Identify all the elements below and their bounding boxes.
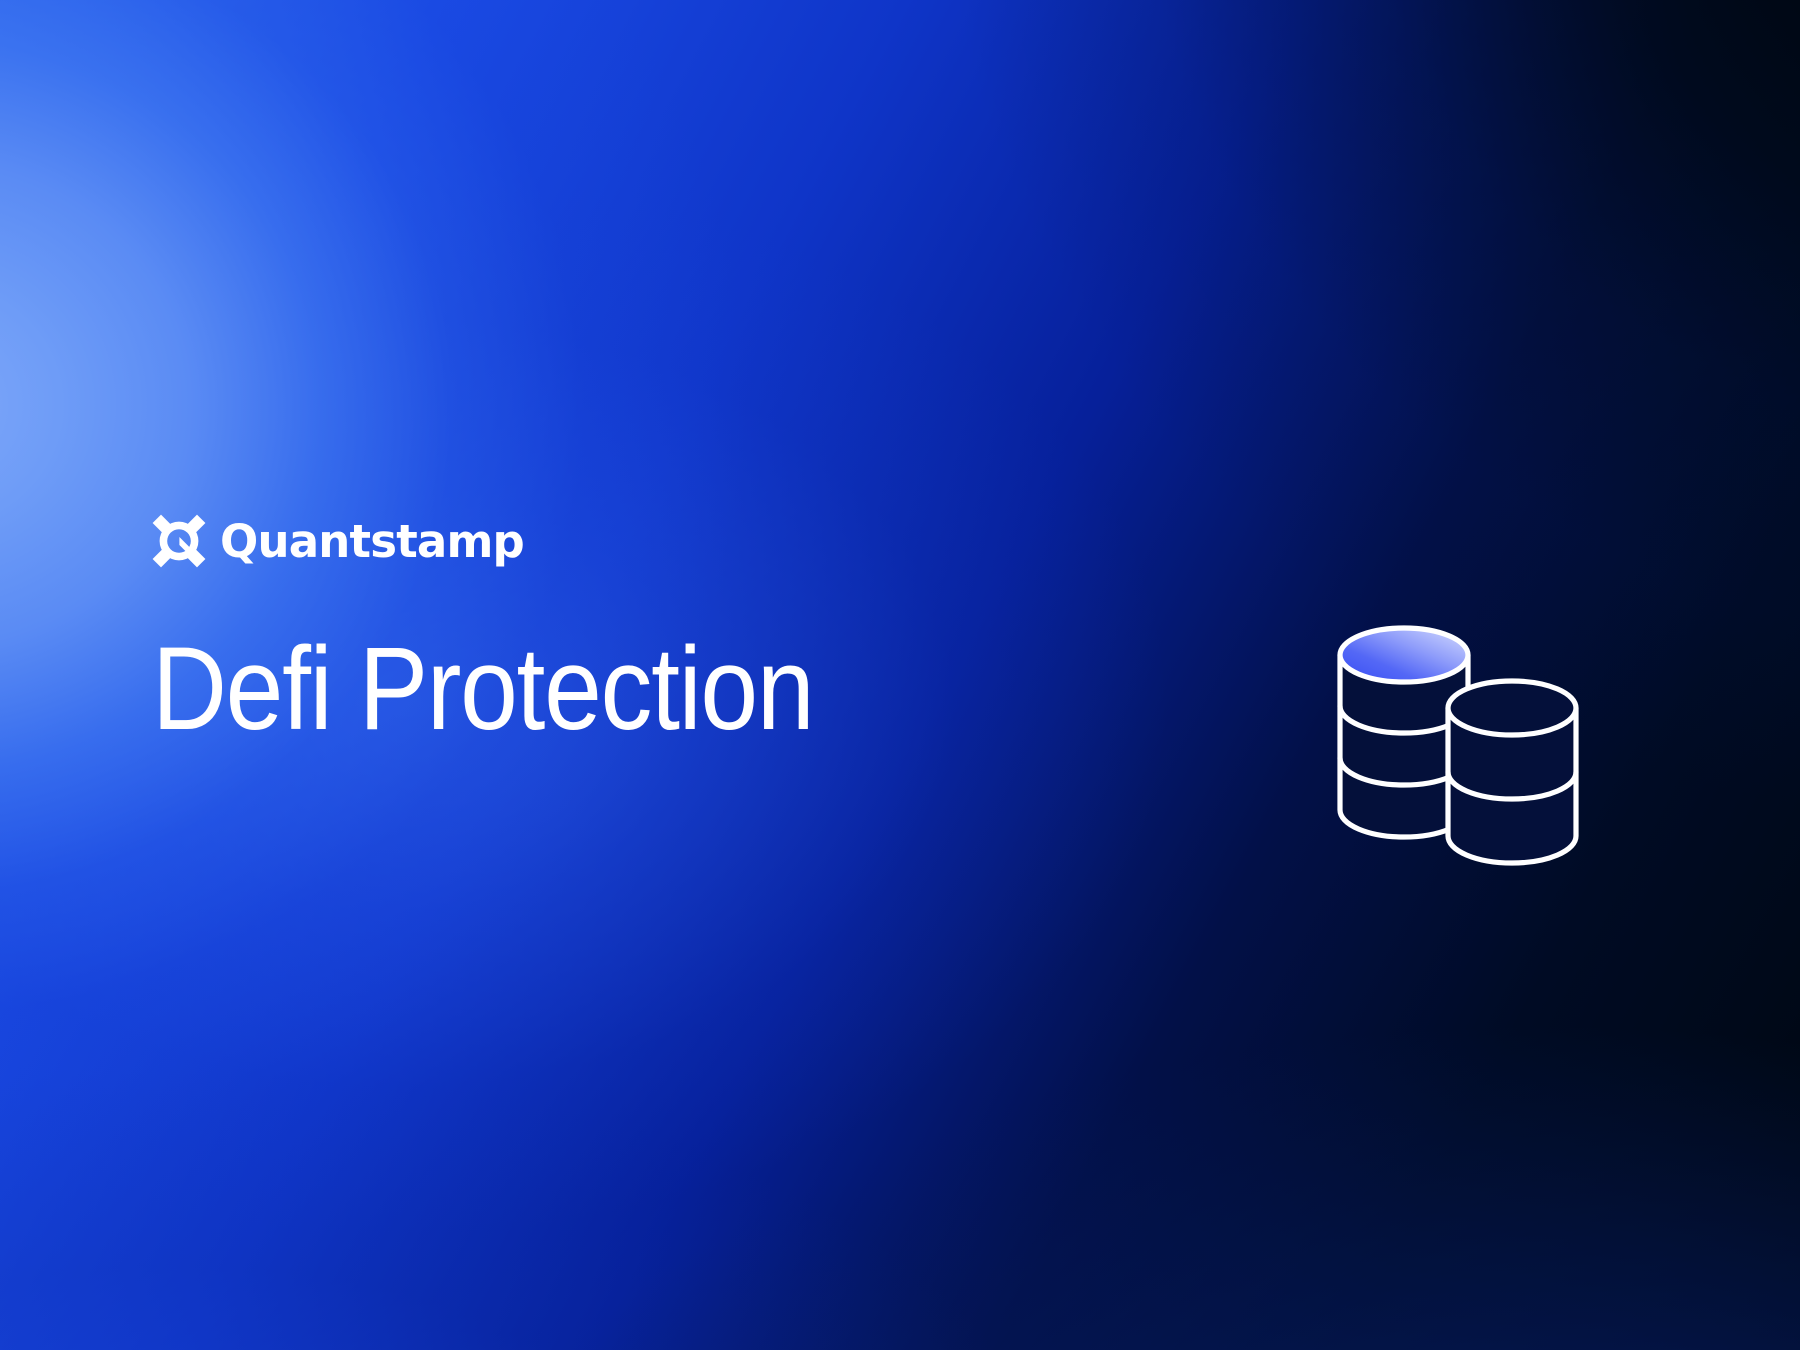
- brand-lockup: Quantstamp: [152, 512, 903, 570]
- hero-content: Quantstamp Defi Protection: [152, 512, 903, 748]
- database-stack-icon: [1318, 592, 1598, 872]
- brand-name-text: Quantstamp: [220, 519, 524, 564]
- quantstamp-logo-icon: [152, 514, 206, 568]
- hero-banner: Quantstamp Defi Protection: [0, 0, 1800, 1350]
- page-title: Defi Protection: [152, 630, 813, 748]
